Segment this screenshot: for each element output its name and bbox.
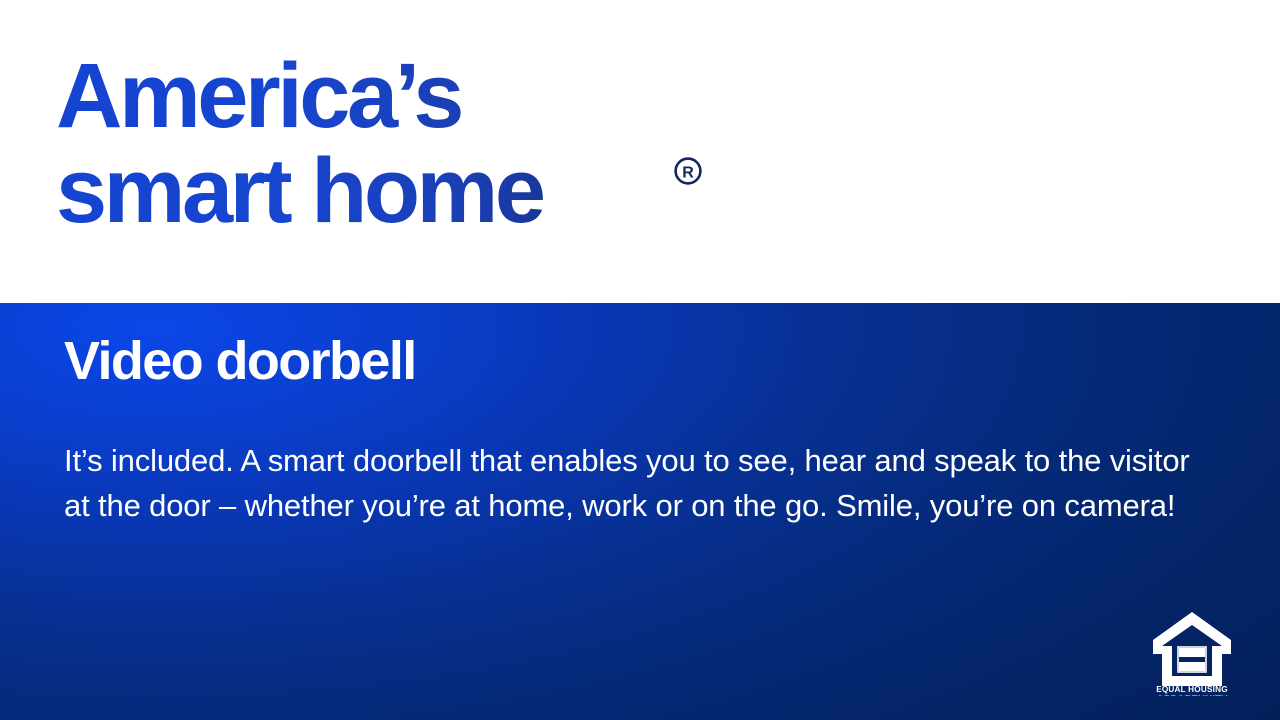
slide-canvas: America’s smart home R Video doorbell It… — [0, 0, 1280, 720]
svg-text:R: R — [682, 164, 694, 181]
brand-line-americas: America’s — [56, 50, 756, 142]
page-title: Video doorbell — [64, 332, 416, 390]
eho-line-2: OPPORTUNITY — [1156, 694, 1228, 696]
registered-trademark-icon: R — [673, 156, 703, 186]
brand-lockup: America’s smart home — [56, 50, 756, 237]
brand-band: America’s smart home R — [0, 0, 1280, 303]
brand-line-smart-home: smart home — [56, 145, 756, 237]
eho-line-1: EQUAL HOUSING — [1156, 685, 1228, 694]
equal-housing-opportunity-logo: EQUAL HOUSING OPPORTUNITY — [1152, 610, 1232, 696]
house-icon — [1153, 612, 1231, 686]
body-paragraph: It’s included. A smart doorbell that ena… — [64, 438, 1199, 528]
